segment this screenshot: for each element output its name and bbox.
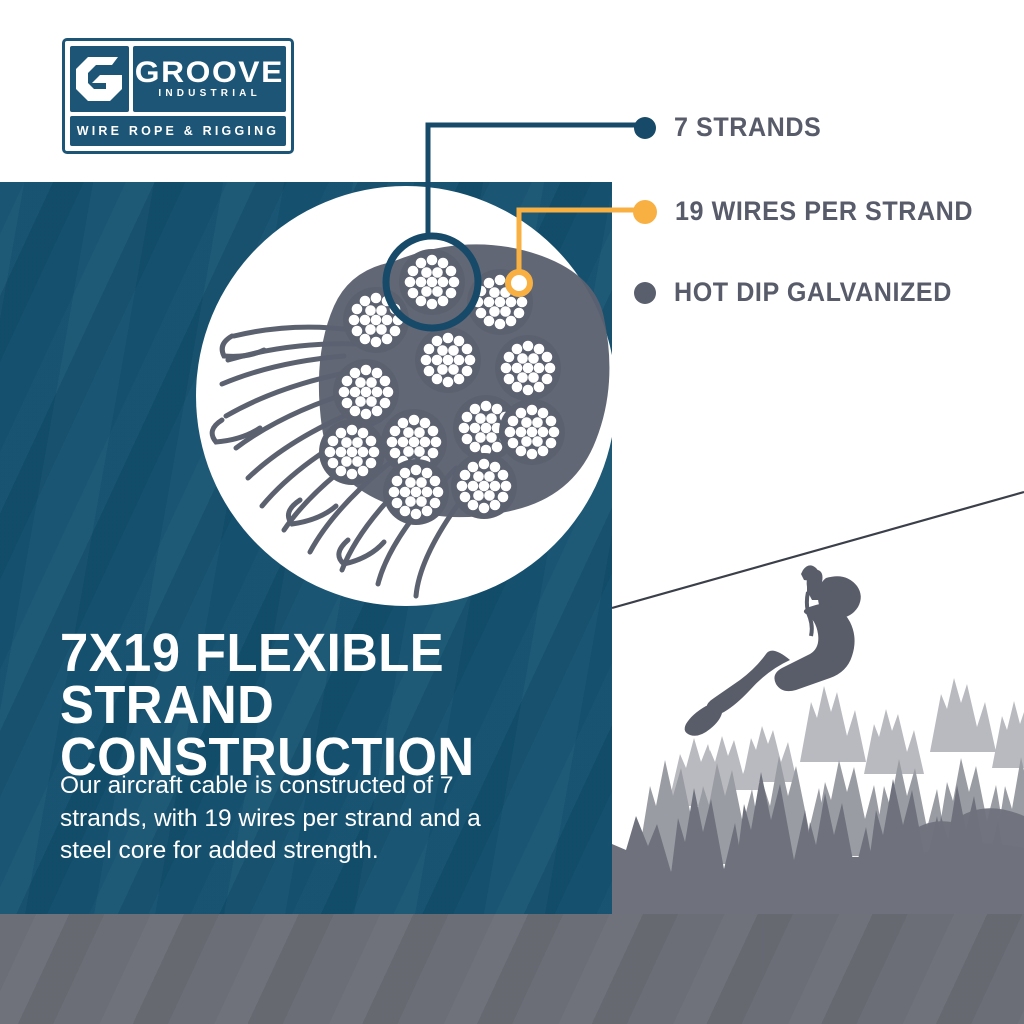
logo-name: GROOVE	[135, 59, 284, 87]
callout-wires: 19 WIRES PER STRAND	[633, 196, 995, 227]
brand-logo[interactable]: GROOVE INDUSTRIAL WIRE ROPE & RIGGING	[62, 38, 294, 154]
headline-line-1: 7X19 FLEXIBLE	[60, 628, 568, 680]
callout-dot-amber	[633, 200, 657, 224]
callout-label-galvanized: HOT DIP GALVANIZED	[674, 277, 952, 308]
callout-galvanized: HOT DIP GALVANIZED	[634, 277, 973, 308]
body-description: Our aircraft cable is constructed of 7 s…	[60, 770, 530, 868]
bottom-bar	[0, 914, 1024, 1024]
connector-strands	[428, 125, 645, 238]
page-title: 7X19 FLEXIBLE STRAND CONSTRUCTION	[60, 628, 568, 783]
groove-g-icon	[70, 46, 129, 112]
callout-dot-navy	[634, 117, 656, 139]
logo-subtitle: INDUSTRIAL	[158, 88, 261, 99]
logo-tagline: WIRE ROPE & RIGGING	[77, 124, 279, 138]
bottom-bar-texture	[0, 914, 1024, 1024]
connector-wires-anchor	[508, 272, 530, 294]
connector-wires	[519, 210, 645, 282]
headline-line-2: STRAND CONSTRUCTION	[60, 680, 568, 784]
callout-label-strands: 7 STRANDS	[674, 112, 821, 143]
callout-label-wires: 19 WIRES PER STRAND	[675, 196, 973, 227]
callout-dot-gray	[634, 282, 656, 304]
callout-strands: 7 STRANDS	[634, 112, 832, 143]
infographic-canvas: GROOVE INDUSTRIAL WIRE ROPE & RIGGING 7 …	[0, 0, 1024, 1024]
groove-g-glyph	[72, 53, 128, 105]
